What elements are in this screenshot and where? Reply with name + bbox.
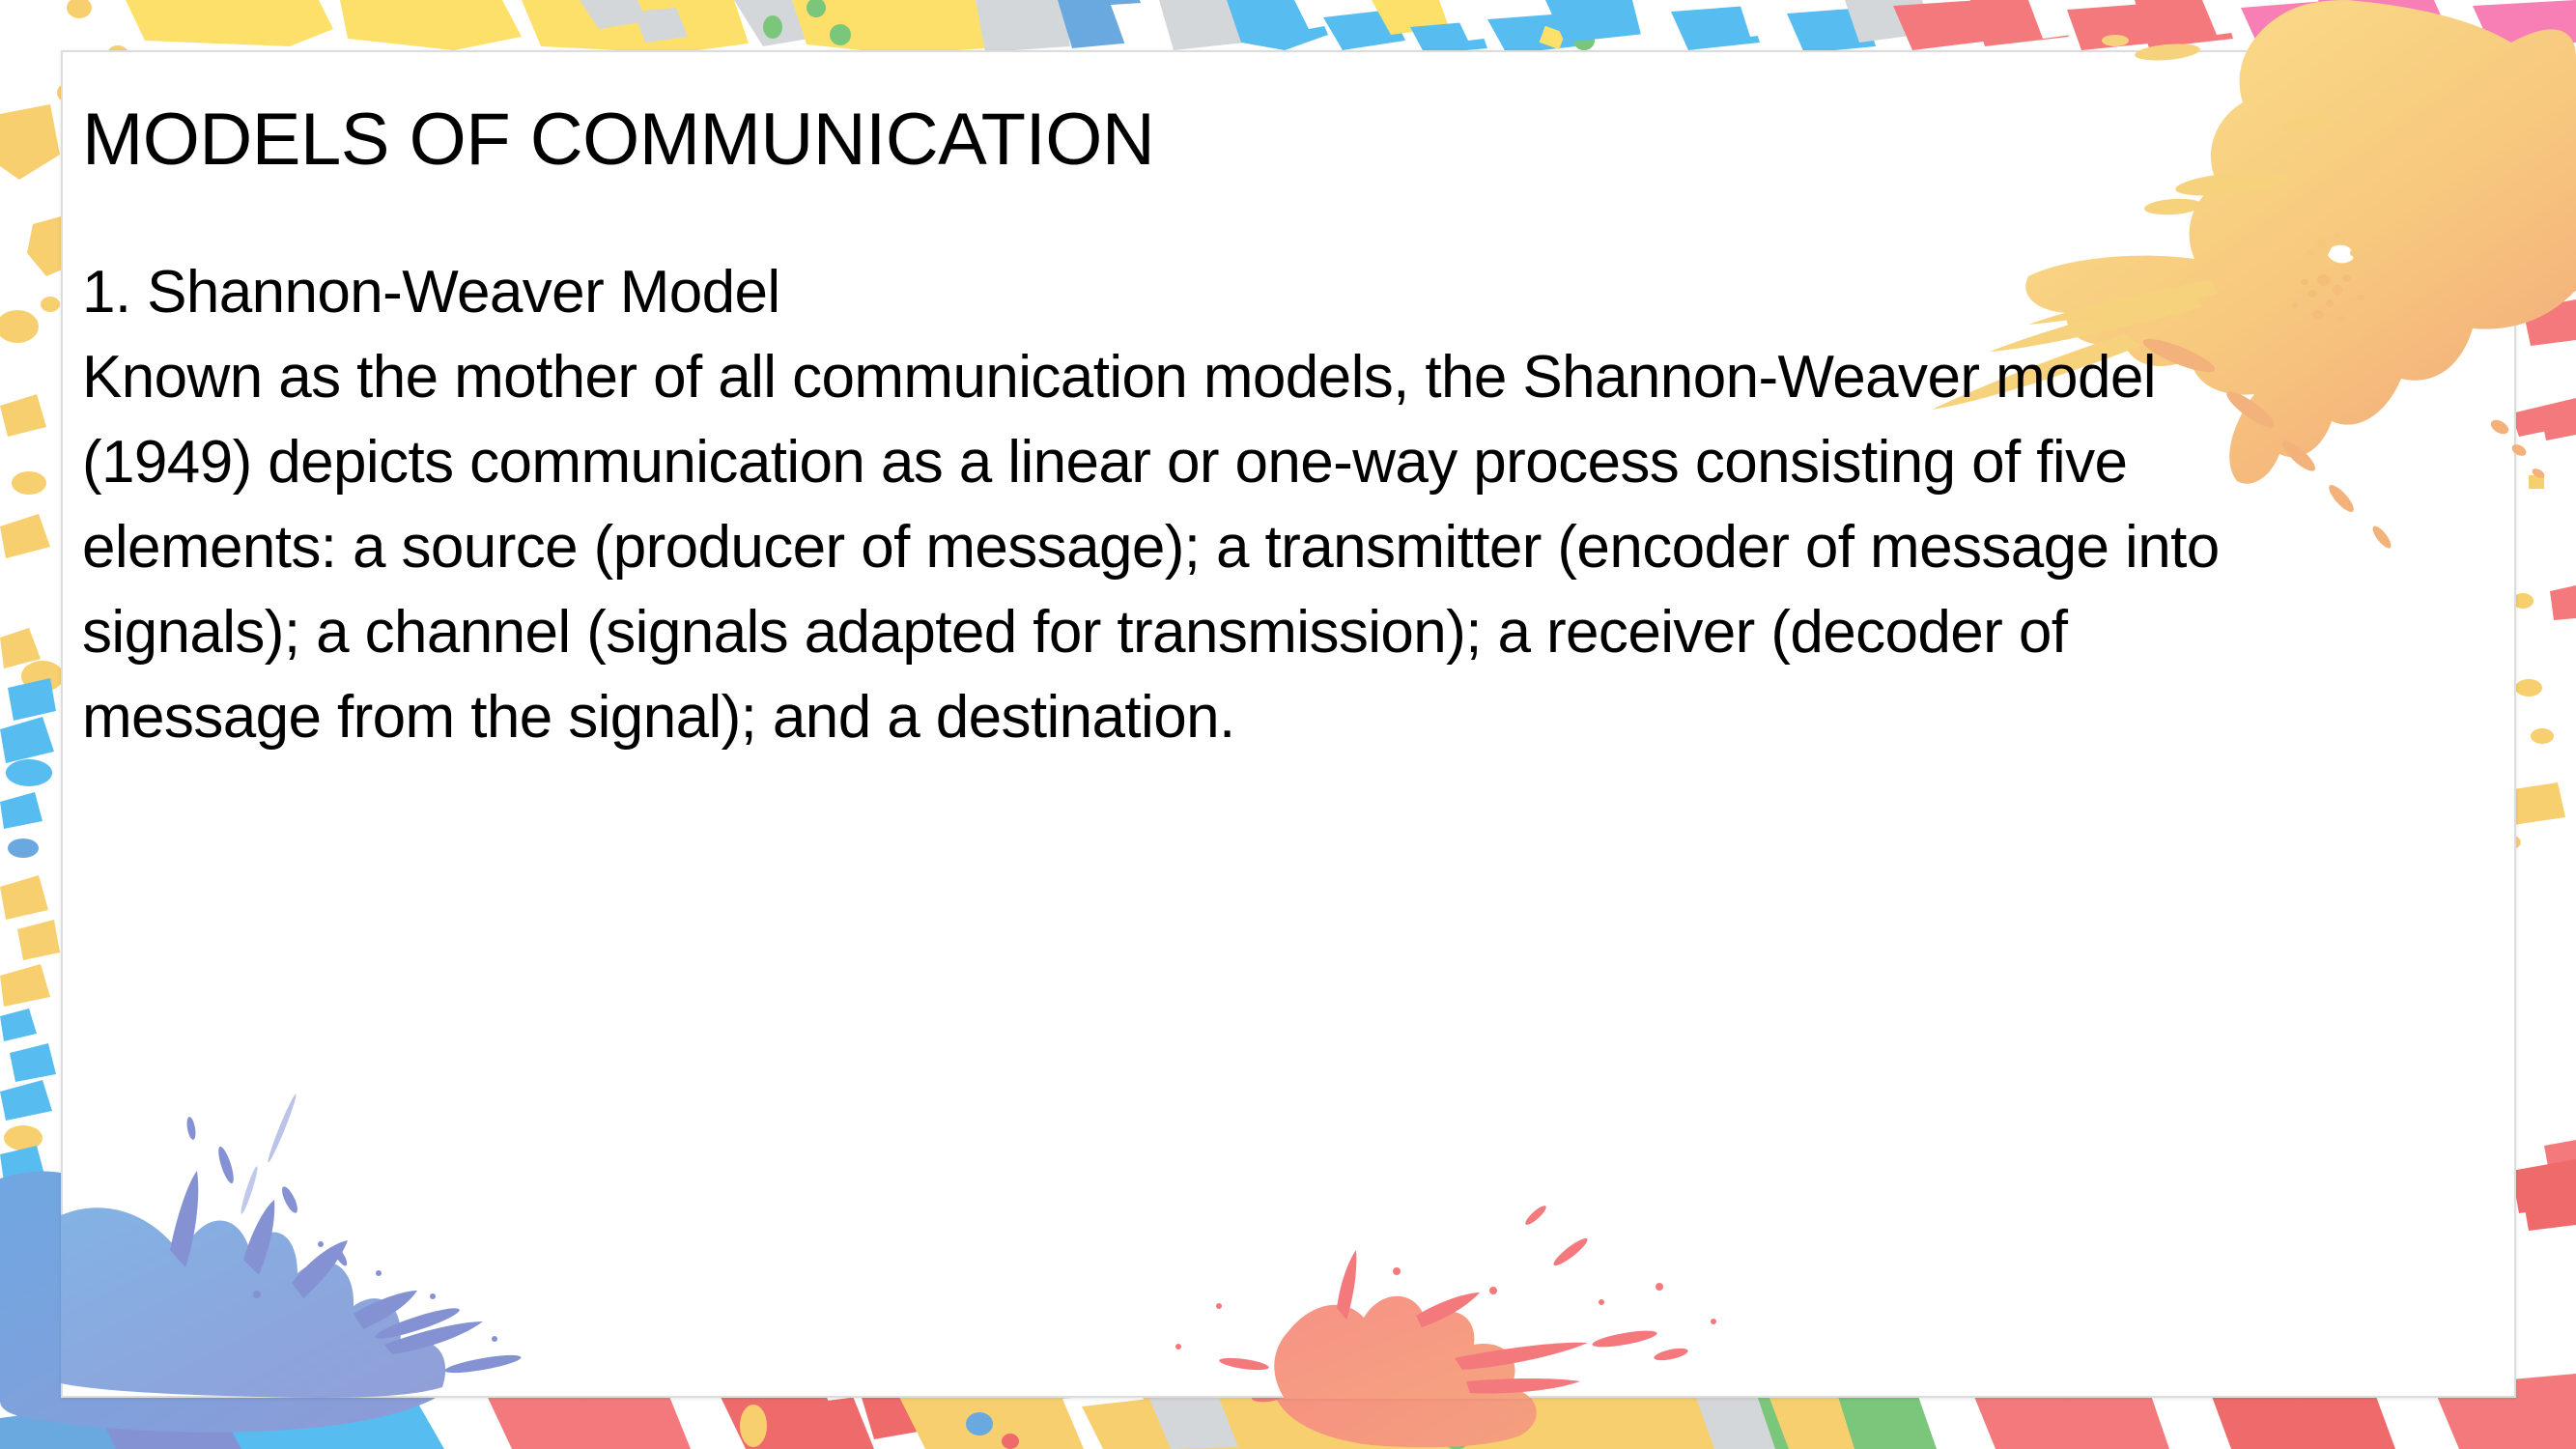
- model-heading: 1. Shannon-Weaver Model: [82, 250, 2487, 335]
- body-line: message from the signal); and a destinat…: [82, 675, 2487, 760]
- slide-text-zone: MODELS OF COMMUNICATION 1. Shannon-Weave…: [82, 50, 2487, 1398]
- presentation-slide: MODELS OF COMMUNICATION 1. Shannon-Weave…: [0, 0, 2576, 1449]
- page-title: MODELS OF COMMUNICATION: [82, 103, 1154, 177]
- slide-body: 1. Shannon-Weaver Model Known as the mot…: [82, 250, 2487, 760]
- body-line: Known as the mother of all communication…: [82, 335, 2487, 420]
- body-line: elements: a source (producer of message)…: [82, 505, 2487, 590]
- body-line: signals); a channel (signals adapted for…: [82, 590, 2487, 675]
- body-line: (1949) depicts communication as a linear…: [82, 420, 2487, 505]
